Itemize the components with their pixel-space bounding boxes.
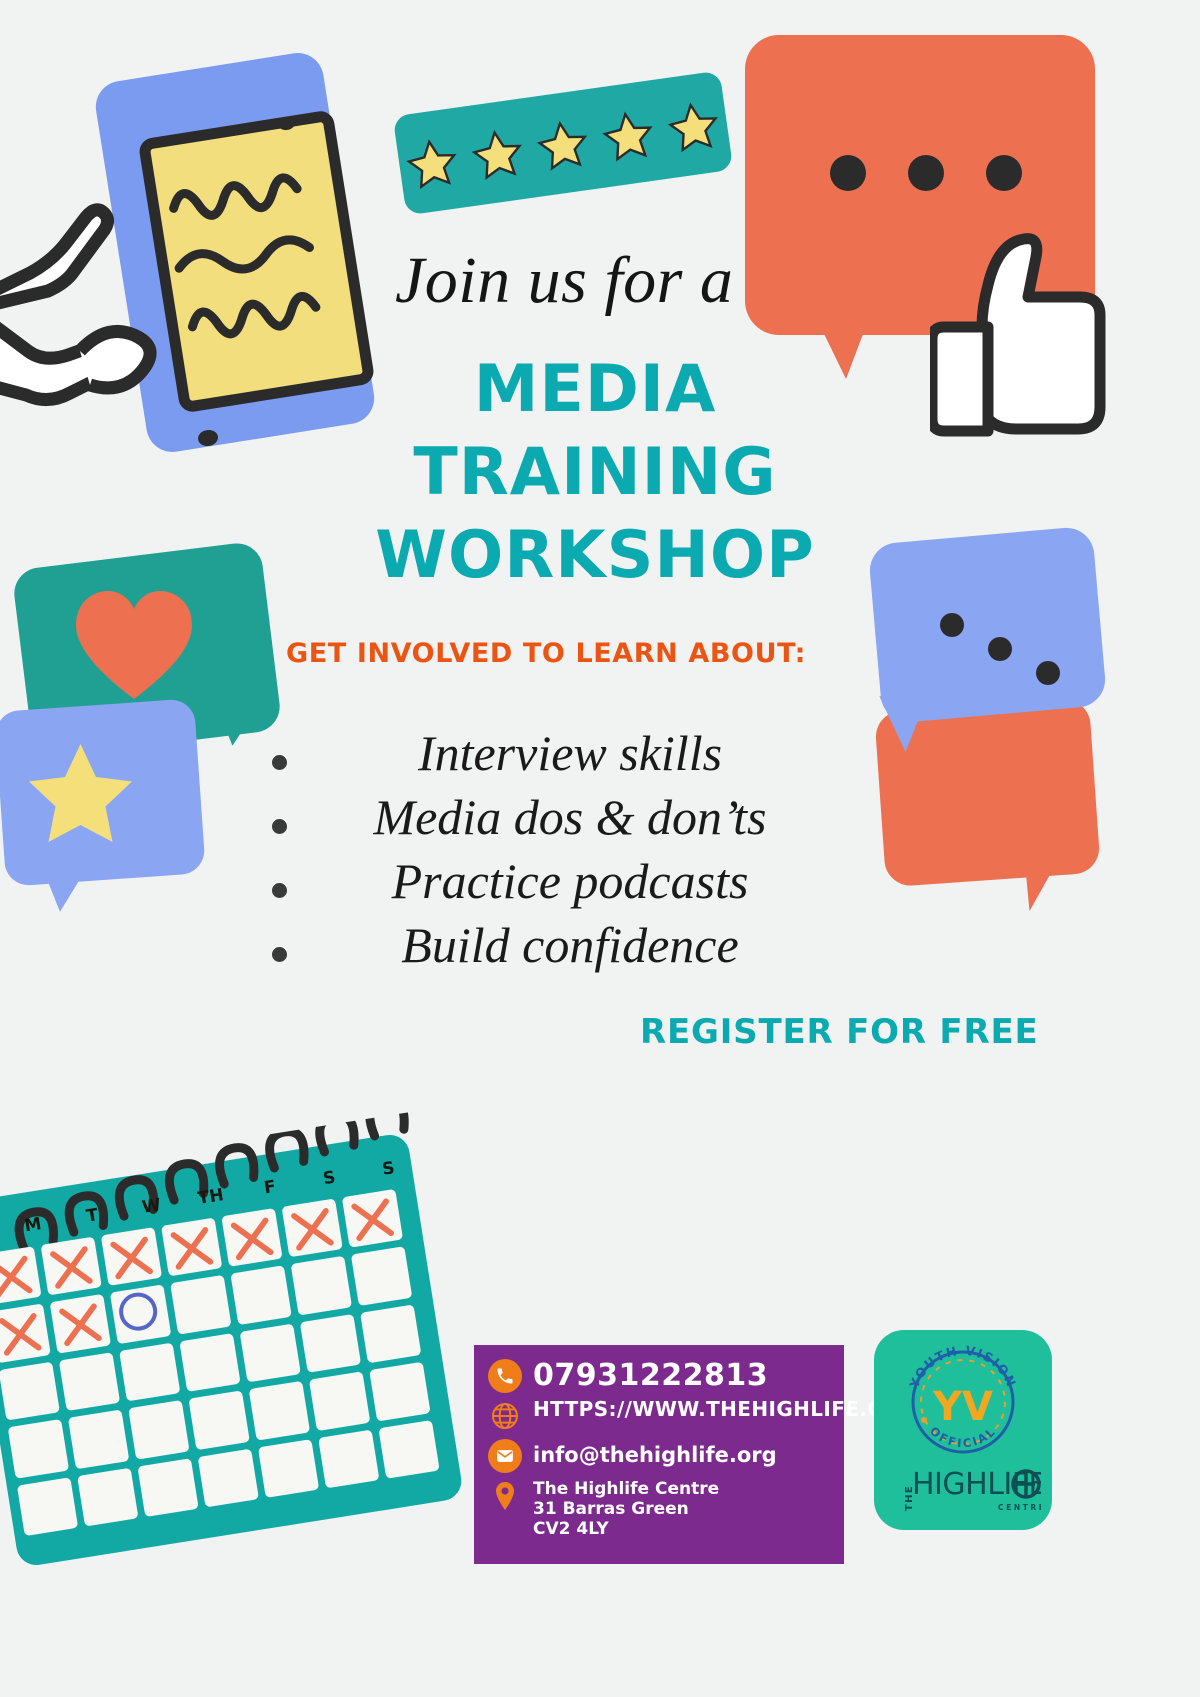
dot [988, 637, 1012, 661]
calendar-cell [0, 1304, 51, 1363]
list-item: Practice podcasts [240, 849, 900, 913]
calendar-cell [240, 1323, 301, 1382]
star-icon [468, 125, 527, 184]
calendar-cell [249, 1381, 310, 1440]
map-pin-icon [488, 1479, 522, 1513]
contact-website-url: HTTPS://WWW.THEHIGHLIFE.ORG/ [533, 1399, 925, 1420]
calendar-cell [221, 1208, 282, 1267]
contact-address-line-1: The Highlife Centre [533, 1479, 719, 1499]
contact-phone-number: 07931222813 [533, 1359, 768, 1393]
contact-phone-row[interactable]: 07931222813 [488, 1359, 844, 1393]
dot [986, 155, 1022, 191]
calendar-illustration: M T W TH F S S [0, 1125, 458, 1545]
calendar-cell [351, 1247, 412, 1306]
star-icon [403, 135, 462, 194]
blue-bubble-tail [38, 853, 100, 913]
dot [940, 613, 964, 637]
star-rating-stars [393, 75, 733, 215]
contact-address-line-2: 31 Barras Green [533, 1499, 719, 1519]
calendar-cell [128, 1400, 189, 1459]
calendar-cell [59, 1352, 120, 1411]
contact-address-line-3: CV2 4LY [533, 1519, 719, 1539]
list-item: Interview skills [240, 721, 900, 785]
speech-bubble-dots [830, 150, 1030, 195]
headline-line-3: WORKSHOP [330, 514, 860, 597]
coral-speech-bubble-secondary-tail [1018, 838, 1069, 913]
star-icon [18, 735, 143, 855]
youth-vision-badge-icon: YOUTH VISION OFFICIAL YV [900, 1340, 1026, 1458]
calendar-cell [8, 1419, 69, 1478]
calendar-cell [369, 1362, 430, 1421]
heart-icon [70, 585, 198, 705]
calendar-cell [230, 1266, 291, 1325]
dot [1036, 661, 1060, 685]
star-icon [599, 107, 658, 166]
contact-email-row[interactable]: info@thehighlife.org [488, 1439, 844, 1473]
poster-canvas: Join us for a MEDIA TRAINING WORKSHOP GE… [0, 0, 1200, 1697]
hand-illustration [0, 155, 220, 455]
star-icon [664, 98, 723, 157]
badge-monogram: YV [932, 1384, 993, 1430]
calendar-cell [198, 1448, 259, 1507]
globe-icon [488, 1399, 522, 1433]
calendar-cell [170, 1275, 231, 1334]
eyebrow-text: Join us for a [395, 248, 795, 314]
calendar-cell [179, 1333, 240, 1392]
subheading: GET INVOLVED TO LEARN ABOUT: [286, 638, 916, 669]
calendar-cell [309, 1371, 370, 1430]
calendar-cell [318, 1429, 379, 1488]
calendar-cell [0, 1246, 42, 1305]
calendar-cell [137, 1458, 198, 1517]
calendar-cell [68, 1410, 129, 1469]
dot [830, 155, 866, 191]
envelope-icon [488, 1439, 522, 1473]
calendar-cell [77, 1467, 138, 1526]
calendar-cell [342, 1189, 403, 1248]
contact-address-row: The Highlife Centre 31 Barras Green CV2 … [488, 1479, 844, 1539]
calendar-highlight-ring [116, 1290, 159, 1333]
calendar-cell [101, 1227, 162, 1286]
calendar-cell [291, 1256, 352, 1315]
list-item: Build confidence [240, 913, 900, 977]
page-title: MEDIA TRAINING WORKSHOP [330, 348, 860, 598]
calendar-cell [300, 1314, 361, 1373]
calendar-cell [258, 1439, 319, 1498]
phone-icon [488, 1359, 522, 1393]
calendar-cell [119, 1342, 180, 1401]
calendar-cell [161, 1218, 222, 1277]
contact-panel: 07931222813 HTTPS://WWW.THEHIGHLIFE.ORG/… [474, 1345, 844, 1564]
contact-address: The Highlife Centre 31 Barras Green CV2 … [533, 1479, 719, 1539]
calendar-cell [17, 1477, 78, 1536]
calendar-cell [188, 1391, 249, 1450]
topics-list: Interview skills Media dos & don’ts Prac… [200, 721, 900, 977]
thumbs-up-illustration [930, 215, 1115, 445]
contact-email-address: info@thehighlife.org [533, 1439, 777, 1471]
calendar-cell [50, 1294, 111, 1353]
calendar-cell [360, 1304, 421, 1363]
wordmark-sub: CENTRE [998, 1503, 1041, 1512]
contact-website-row[interactable]: HTTPS://WWW.THEHIGHLIFE.ORG/ [488, 1399, 844, 1433]
highlife-centre-wordmark: THE HIGHLIFE CENTRE [886, 1454, 1041, 1516]
dot [908, 155, 944, 191]
star-icon [534, 116, 593, 175]
calendar-cell [282, 1198, 343, 1257]
call-to-action: REGISTER FOR FREE [640, 1012, 1039, 1052]
organisation-logo: YOUTH VISION OFFICIAL YV THE HIGHLIFE CE… [874, 1330, 1052, 1530]
list-item: Media dos & don’ts [240, 785, 900, 849]
headline-line-2: TRAINING [330, 431, 860, 514]
calendar-cell [0, 1362, 60, 1421]
calendar-cell [41, 1237, 102, 1296]
calendar-cell [378, 1420, 439, 1479]
calendar-cell-highlighted [110, 1285, 171, 1344]
headline-line-1: MEDIA [330, 348, 860, 431]
blue-bubble-dots [940, 595, 1070, 685]
